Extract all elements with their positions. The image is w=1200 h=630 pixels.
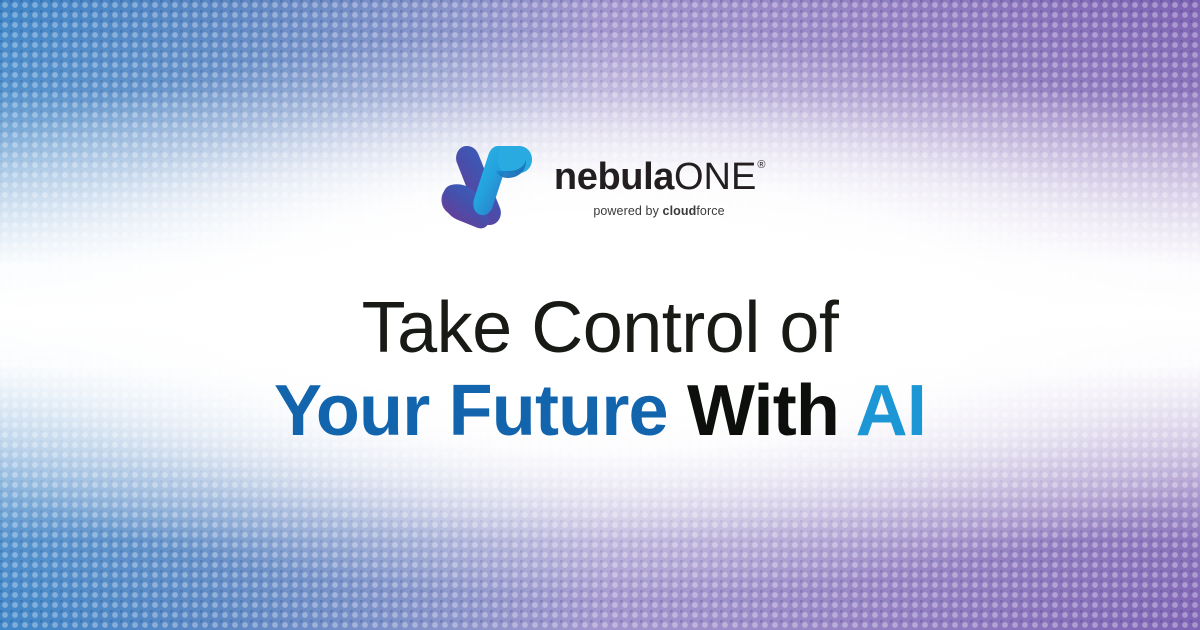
banner-content: nebula ONE ® powered by cloudforce Take …	[0, 0, 1200, 630]
brand-wordmark-group: nebula ONE ® powered by cloudforce	[554, 154, 764, 218]
brand-wordmark: nebula ONE ®	[554, 158, 764, 196]
brand-lockup: nebula ONE ® powered by cloudforce	[436, 140, 764, 232]
marketing-banner: nebula ONE ® powered by cloudforce Take …	[0, 0, 1200, 630]
headline-with: With	[668, 371, 856, 451]
wordmark-one: ONE	[674, 158, 756, 196]
headline-ai: AI	[856, 371, 926, 451]
page-title: Take Control of Your Future With AI	[274, 288, 926, 453]
headline-your-future: Your Future	[274, 371, 668, 451]
wordmark-nebula: nebula	[554, 158, 674, 196]
registered-mark-icon: ®	[757, 160, 765, 171]
headline-line-2: Your Future With AI	[274, 371, 926, 452]
tagline-prefix: powered by	[593, 204, 662, 218]
headline-line-1: Take Control of	[274, 288, 926, 369]
tagline-cloud: cloud	[663, 204, 697, 218]
nebulaone-logo-mark	[436, 140, 532, 232]
tagline-force: force	[696, 204, 724, 218]
brand-tagline: powered by cloudforce	[593, 205, 724, 218]
